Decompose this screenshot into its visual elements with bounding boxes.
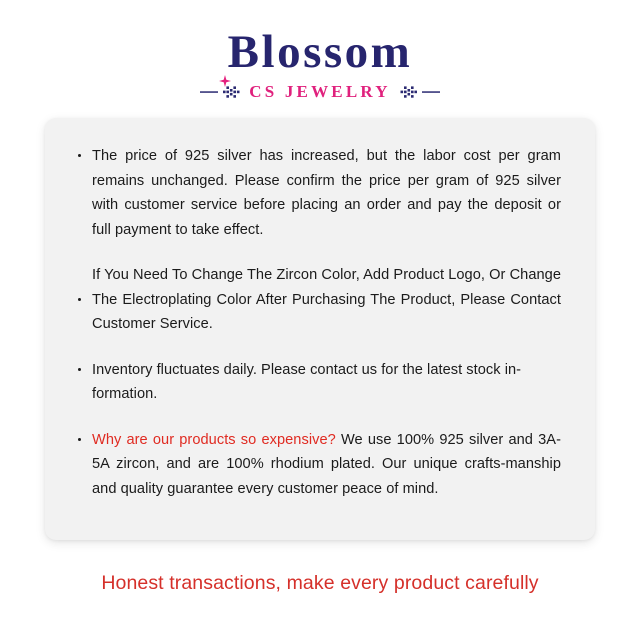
list-item: If You Need To Change The Zircon Color, … bbox=[78, 263, 561, 337]
notice-list: The price of 925 silver has increased, b… bbox=[78, 144, 561, 501]
footer-tagline: Honest transactions, make every product … bbox=[0, 570, 640, 596]
bullet-dot-icon bbox=[78, 368, 81, 371]
list-item: Inventory fluctuates daily. Please conta… bbox=[78, 358, 561, 407]
bullet-dot-icon bbox=[78, 298, 81, 301]
list-item: The price of 925 silver has increased, b… bbox=[78, 144, 561, 242]
bullet-dot-icon bbox=[78, 438, 81, 441]
promo-banner-page: Blossom bbox=[0, 0, 640, 640]
flower-ornament-right-icon bbox=[396, 85, 440, 99]
notice-question-pricing: Why are our products so expensive? bbox=[92, 432, 336, 448]
notice-text-inventory: Inventory fluctuates daily. Please conta… bbox=[92, 362, 521, 403]
brand-subtitle-text: CS JEWELRY bbox=[249, 82, 390, 102]
brand-header: Blossom bbox=[0, 28, 640, 102]
brand-wordmark: Blossom bbox=[228, 28, 413, 78]
brand-subtitle-row: CS JEWELRY bbox=[0, 82, 640, 102]
bullet-dot-icon bbox=[78, 154, 81, 157]
notice-card: The price of 925 silver has increased, b… bbox=[45, 118, 595, 540]
notice-text-customization: If You Need To Change The Zircon Color, … bbox=[92, 267, 561, 332]
flower-ornament-left-icon bbox=[200, 85, 244, 99]
notice-text-price: The price of 925 silver has increased, b… bbox=[92, 148, 561, 238]
list-item: Why are our products so expensive? We us… bbox=[78, 428, 561, 502]
brand-wordmark-text: Blossom bbox=[228, 26, 413, 78]
